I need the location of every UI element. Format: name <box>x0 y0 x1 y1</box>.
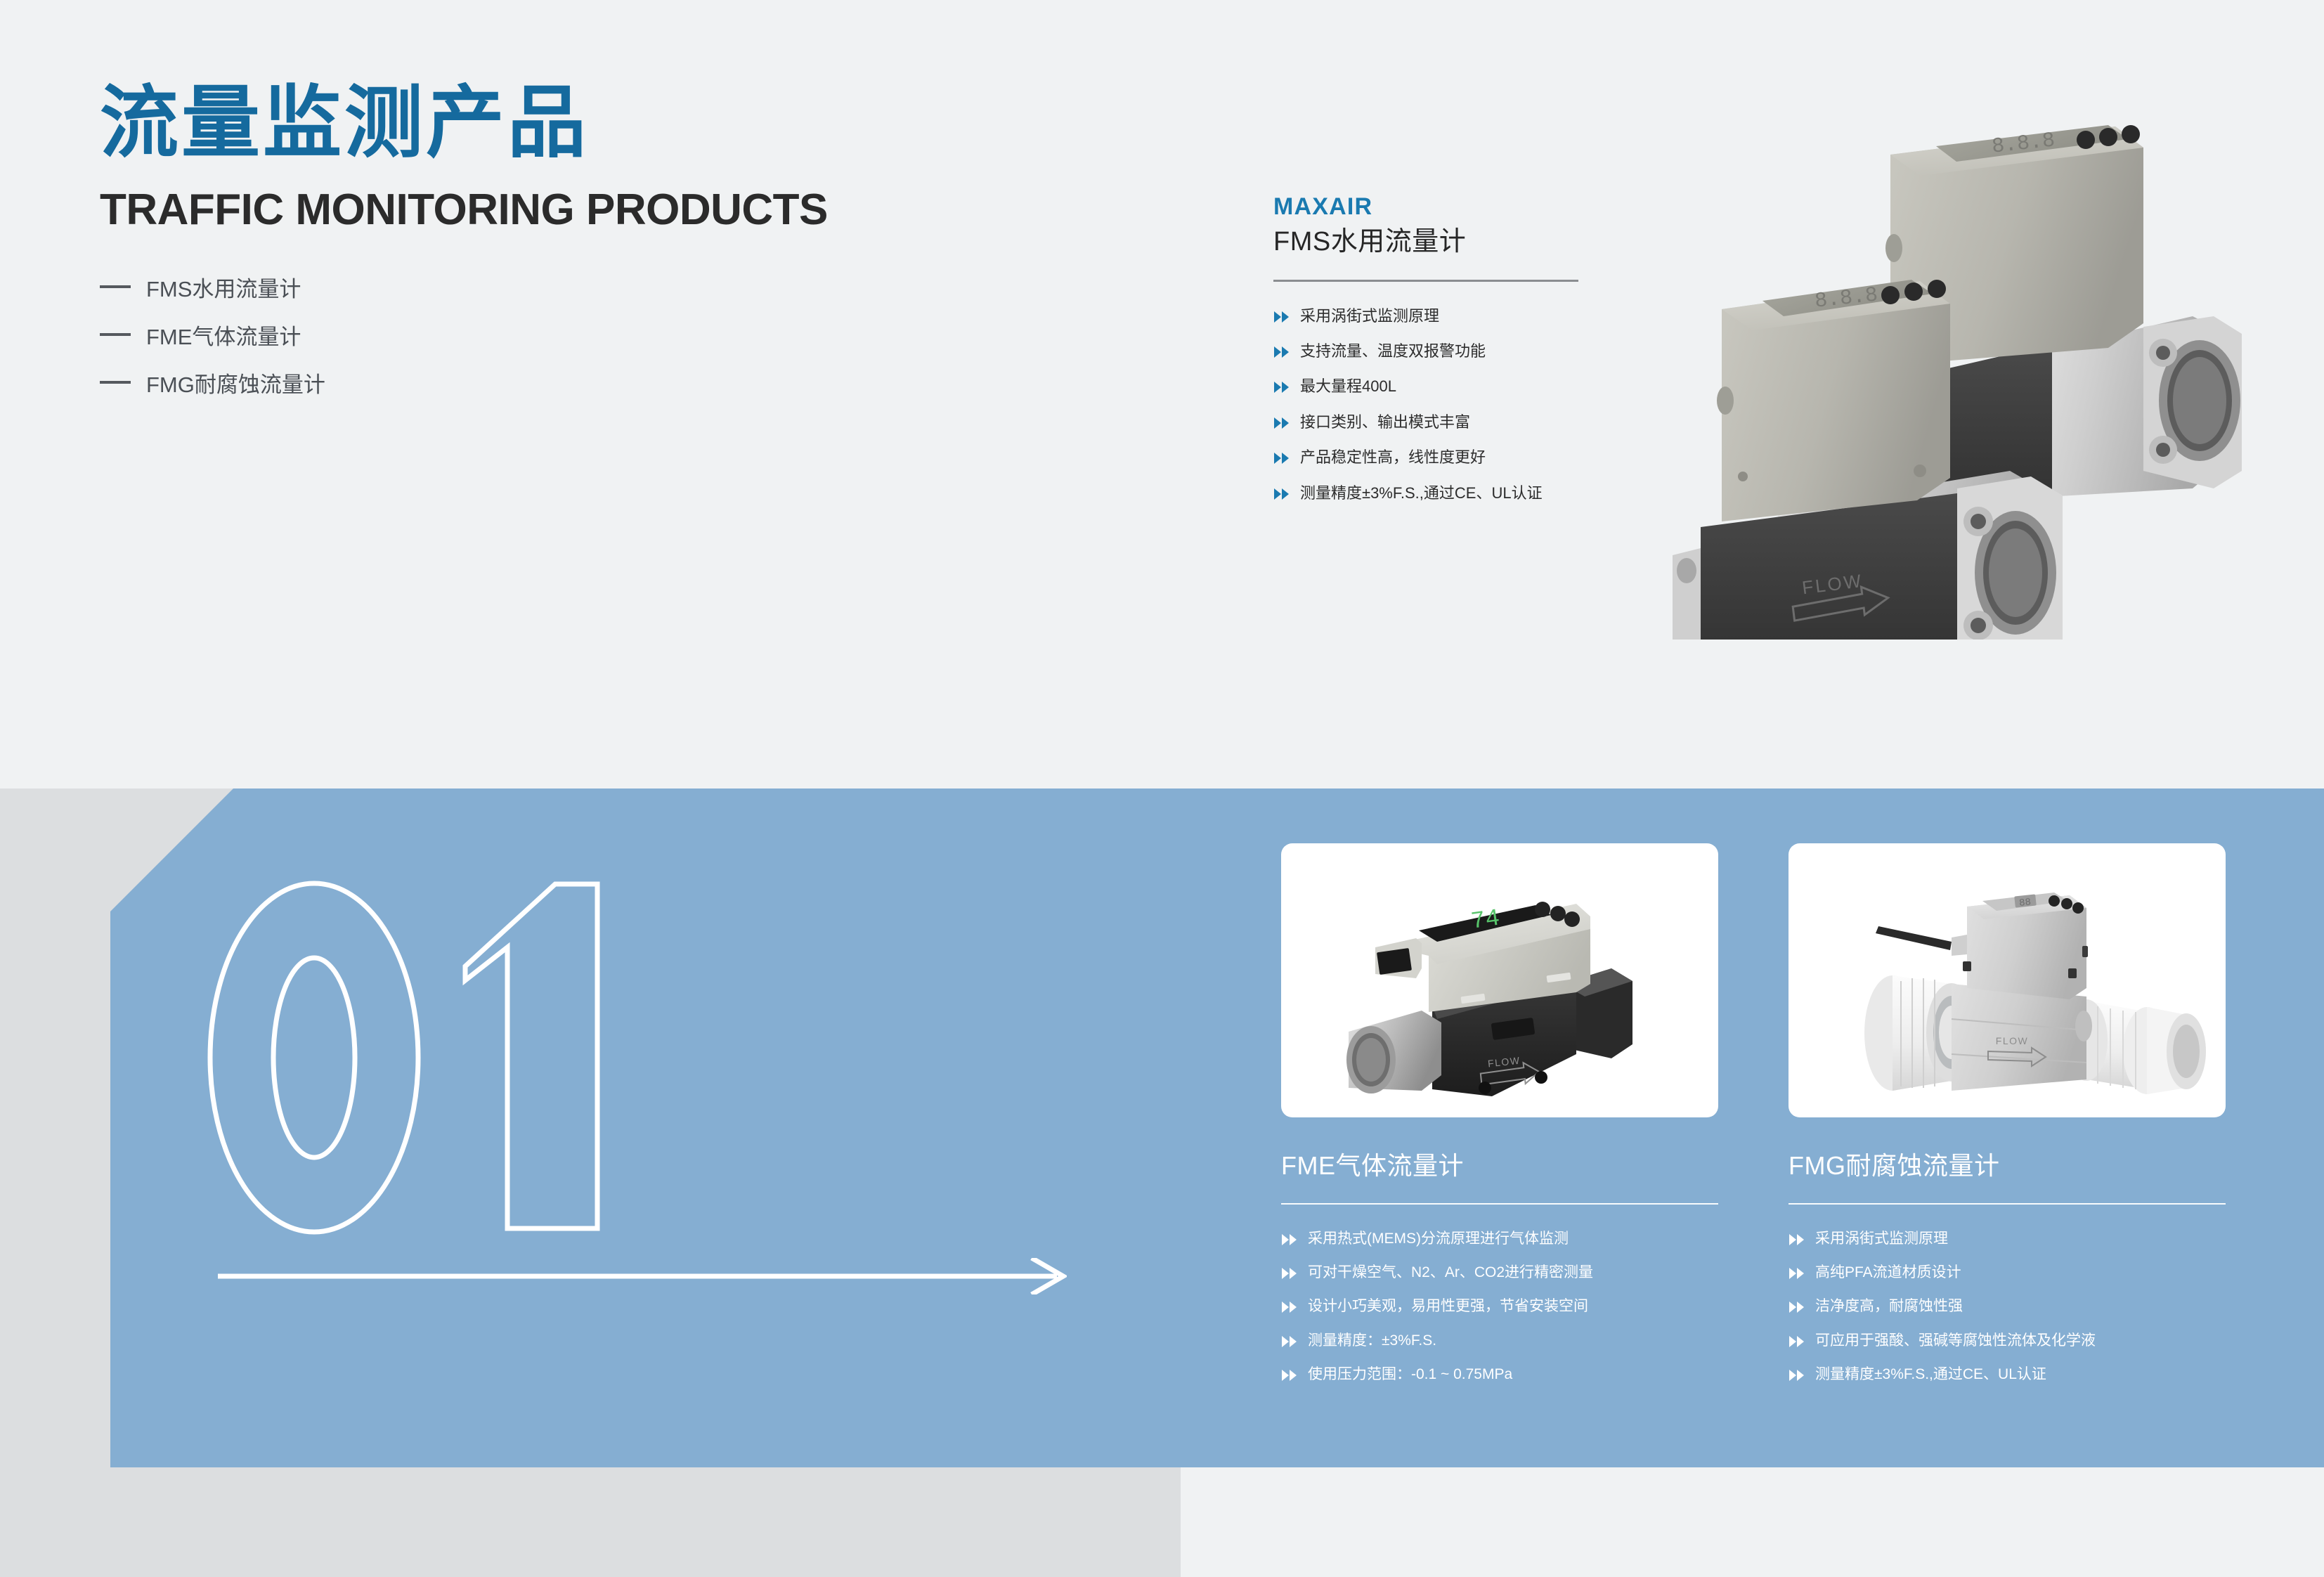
feature-text: 设计小巧美观，易用性更强，节省安装空间 <box>1308 1297 1588 1315</box>
list-item: 使用压力范围：-0.1 ~ 0.75MPa <box>1281 1365 1718 1383</box>
double-arrow-icon <box>1273 486 1292 502</box>
product-nav-list: FMS水用流量计 FME气体流量计 FMG耐腐蚀流量计 <box>100 271 1013 398</box>
double-arrow-icon <box>1281 1266 1299 1281</box>
nav-item-label: FMG耐腐蚀流量计 <box>146 367 325 398</box>
fme-product-name: FME气体流量计 <box>1281 1146 1718 1182</box>
top-section: 流量监测产品 TRAFFIC MONITORING PRODUCTS FMS水用… <box>0 0 2324 788</box>
nav-item-label: FME气体流量计 <box>146 319 301 351</box>
fms-product-image: 8.8.8 FLOW <box>1658 105 2291 640</box>
fme-product-image: FLOW 74 <box>1281 843 1718 1117</box>
svg-text:FLOW: FLOW <box>1996 1035 2028 1046</box>
feature-text: 采用热式(MEMS)分流原理进行气体监测 <box>1308 1230 1569 1247</box>
list-item: 最大量程400L <box>1273 377 1597 396</box>
fme-display-value: 74 <box>1469 905 1502 935</box>
nav-item-label: FMS水用流量计 <box>146 271 301 303</box>
fmg-product-name: FMG耐腐蚀流量计 <box>1789 1146 2226 1182</box>
double-arrow-icon <box>1789 1368 1807 1383</box>
double-arrow-icon <box>1281 1334 1299 1349</box>
feature-text: 最大量程400L <box>1300 377 1396 396</box>
feature-text: 测量精度：±3%F.S. <box>1308 1332 1436 1349</box>
list-item: 高纯PFA流道材质设计 <box>1789 1264 2226 1281</box>
double-arrow-icon <box>1281 1232 1299 1247</box>
page-title-en: TRAFFIC MONITORING PRODUCTS <box>100 186 1013 234</box>
divider <box>1273 280 1578 282</box>
nav-item-fmg[interactable]: FMG耐腐蚀流量计 <box>100 367 1013 398</box>
feature-text: 采用涡街式监测原理 <box>1300 307 1439 325</box>
list-item: 可对干燥空气、N2、Ar、CO2进行精密测量 <box>1281 1264 1718 1281</box>
fme-info-panel: FME气体流量计 采用热式(MEMS)分流原理进行气体监测 可对干燥空气、N2、… <box>1281 1146 1718 1399</box>
dash-icon <box>100 381 131 384</box>
list-item: 支持流量、温度双报警功能 <box>1273 342 1597 361</box>
feature-text: 采用涡街式监测原理 <box>1815 1230 1948 1247</box>
divider <box>1281 1203 1718 1205</box>
double-arrow-icon <box>1273 379 1292 395</box>
feature-text: 洁净度高，耐腐蚀性强 <box>1815 1297 1963 1315</box>
divider <box>1789 1203 2226 1205</box>
product-card-fme[interactable]: FLOW 74 <box>1281 843 1718 1117</box>
fmg-display-value: 88 <box>2018 897 2031 909</box>
bottom-right-band <box>1181 1467 2324 1577</box>
brand-name: MAXAIR <box>1273 193 1597 221</box>
list-item: 测量精度±3%F.S.,通过CE、UL认证 <box>1789 1365 2226 1383</box>
list-item: 产品稳定性高，线性度更好 <box>1273 448 1597 467</box>
fms-product-name: FMS水用流量计 <box>1273 226 1597 259</box>
feature-text: 高纯PFA流道材质设计 <box>1815 1264 1961 1281</box>
feature-text: 测量精度±3%F.S.,通过CE、UL认证 <box>1815 1365 2046 1383</box>
list-item: 采用热式(MEMS)分流原理进行气体监测 <box>1281 1230 1718 1247</box>
product-card-fmg[interactable]: FLOW 88 <box>1789 843 2226 1117</box>
list-item: 洁净度高，耐腐蚀性强 <box>1789 1297 2226 1315</box>
list-item: 采用涡街式监测原理 <box>1789 1230 2226 1247</box>
feature-text: 可对干燥空气、N2、Ar、CO2进行精密测量 <box>1308 1264 1593 1281</box>
nav-item-fme[interactable]: FME气体流量计 <box>100 319 1013 351</box>
fme-feature-list: 采用热式(MEMS)分流原理进行气体监测 可对干燥空气、N2、Ar、CO2进行精… <box>1281 1230 1718 1383</box>
feature-text: 测量精度±3%F.S.,通过CE、UL认证 <box>1300 484 1543 502</box>
feature-text: 支持流量、温度双报警功能 <box>1300 342 1486 361</box>
fmg-product-image: FLOW 88 <box>1789 843 2226 1117</box>
dash-icon <box>100 285 131 288</box>
feature-text: 接口类别、输出模式丰富 <box>1300 413 1470 431</box>
section-number-01 <box>204 871 731 1244</box>
double-arrow-icon <box>1281 1299 1299 1315</box>
fmg-feature-list: 采用涡街式监测原理 高纯PFA流道材质设计 洁净度高，耐腐蚀性强 可应用于强酸、… <box>1789 1230 2226 1383</box>
double-arrow-icon <box>1789 1266 1807 1281</box>
arrow-right-icon <box>216 1258 1067 1294</box>
list-item: 设计小巧美观，易用性更强，节省安装空间 <box>1281 1297 1718 1315</box>
catalog-page: 流量监测产品 TRAFFIC MONITORING PRODUCTS FMS水用… <box>0 0 2324 1577</box>
double-arrow-icon <box>1273 309 1292 325</box>
double-arrow-icon <box>1273 450 1292 466</box>
fmg-info-panel: FMG耐腐蚀流量计 采用涡街式监测原理 高纯PFA流道材质设计 洁净度高，耐腐蚀… <box>1789 1146 2226 1399</box>
feature-text: 使用压力范围：-0.1 ~ 0.75MPa <box>1308 1365 1512 1383</box>
double-arrow-icon <box>1789 1232 1807 1247</box>
feature-text: 可应用于强酸、强碱等腐蚀性流体及化学液 <box>1815 1332 2096 1349</box>
list-item: 可应用于强酸、强碱等腐蚀性流体及化学液 <box>1789 1332 2226 1349</box>
page-title-cn: 流量监测产品 <box>100 79 1013 167</box>
double-arrow-icon <box>1789 1299 1807 1315</box>
double-arrow-icon <box>1789 1334 1807 1349</box>
double-arrow-icon <box>1281 1368 1299 1383</box>
feature-text: 产品稳定性高，线性度更好 <box>1300 448 1486 467</box>
dash-icon <box>100 333 131 336</box>
fms-feature-list: 采用涡街式监测原理 支持流量、温度双报警功能 最大量程400L 接口类别、输出模… <box>1273 307 1597 502</box>
list-item: 接口类别、输出模式丰富 <box>1273 413 1597 431</box>
list-item: 测量精度：±3%F.S. <box>1281 1332 1718 1349</box>
nav-item-fms[interactable]: FMS水用流量计 <box>100 271 1013 303</box>
list-item: 采用涡街式监测原理 <box>1273 307 1597 325</box>
list-item: 测量精度±3%F.S.,通过CE、UL认证 <box>1273 484 1597 502</box>
page-title-block: 流量监测产品 TRAFFIC MONITORING PRODUCTS FMS水用… <box>100 79 1013 415</box>
double-arrow-icon <box>1273 344 1292 360</box>
fms-info-panel: MAXAIR FMS水用流量计 采用涡街式监测原理 支持流量、温度双报警功能 最… <box>1273 193 1597 519</box>
double-arrow-icon <box>1273 415 1292 431</box>
